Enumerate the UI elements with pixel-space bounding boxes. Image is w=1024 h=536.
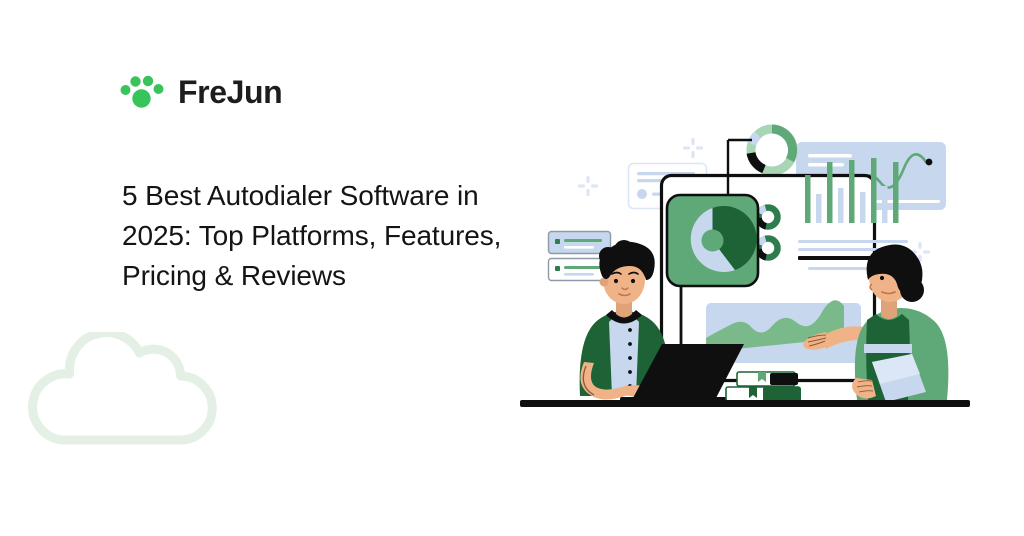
donut-top (751, 129, 793, 171)
brand-name: FreJun (178, 76, 282, 108)
team-analytics-dashboard-illustration (520, 100, 970, 420)
card-green-pie (667, 195, 758, 286)
brand-logo[interactable]: FreJun (118, 72, 282, 112)
desk-line (520, 400, 970, 407)
cloud-outline-icon (22, 332, 222, 452)
page-title: 5 Best Autodialer Software in 2025: Top … (122, 176, 552, 295)
page-root: FreJun 5 Best Autodialer Software in 202… (0, 0, 1024, 536)
book-stack (726, 372, 801, 401)
frejun-paw-dots-icon (118, 72, 166, 112)
